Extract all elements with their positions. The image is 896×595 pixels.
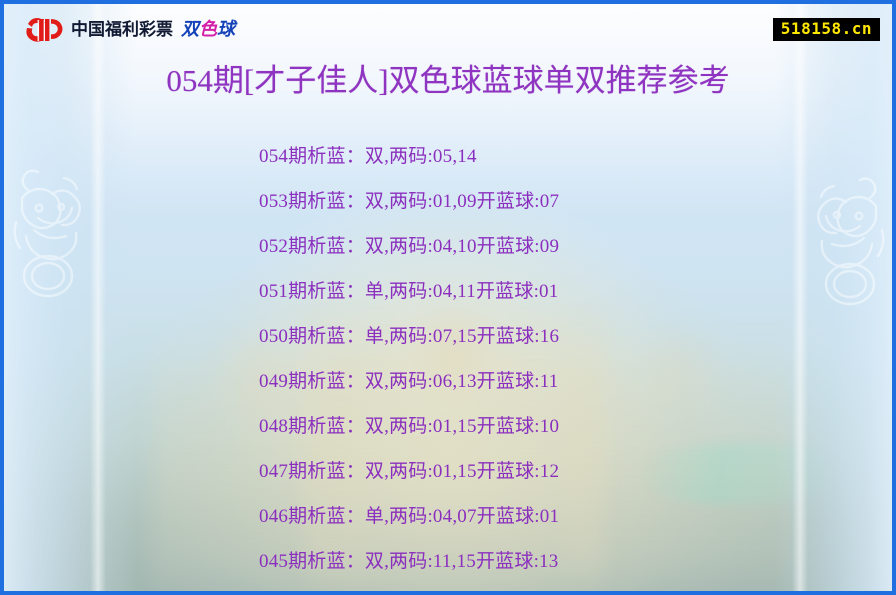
list-item: 052期析蓝：双,两码:04,10开蓝球:09 — [4, 222, 892, 267]
list-item: 049期析蓝：双,两码:06,13开蓝球:11 — [4, 357, 892, 402]
list-item: 046期析蓝：单,两码:04,07开蓝球:01 — [4, 492, 892, 537]
list-item: 047期析蓝：双,两码:01,15开蓝球:12 — [4, 447, 892, 492]
lottery-prediction-image: 中国福利彩票 双色球 518158.cn 054期[才子佳人]双色球蓝球单双推荐… — [0, 0, 896, 595]
brand-logo[interactable]: 中国福利彩票 双色球 — [24, 16, 235, 44]
product-name-text: 双色球 — [181, 21, 235, 39]
brand-name-text: 中国福利彩票 — [71, 22, 173, 39]
product-char-1: 双 — [181, 19, 199, 40]
list-item: 053期析蓝：双,两码:01,09开蓝球:07 — [4, 177, 892, 222]
product-char-2: 色 — [199, 19, 217, 40]
list-item: 051期析蓝：单,两码:04,11开蓝球:01 — [4, 267, 892, 312]
page-title: 054期[才子佳人]双色球蓝球单双推荐参考 — [4, 62, 892, 99]
list-item: 054期析蓝：双,两码:05,14 — [4, 132, 892, 177]
list-item: 050期析蓝：单,两码:07,15开蓝球:16 — [4, 312, 892, 357]
site-watermark: 518158.cn — [773, 18, 880, 41]
header-bar: 中国福利彩票 双色球 518158.cn — [4, 4, 892, 52]
prediction-list: 054期析蓝：双,两码:05,14 053期析蓝：双,两码:01,09开蓝球:0… — [4, 132, 892, 582]
china-welfare-lottery-emblem-icon — [24, 16, 64, 44]
list-item: 048期析蓝：双,两码:01,15开蓝球:10 — [4, 402, 892, 447]
list-item: 045期析蓝：双,两码:11,15开蓝球:13 — [4, 537, 892, 582]
product-char-3: 球 — [217, 19, 235, 40]
